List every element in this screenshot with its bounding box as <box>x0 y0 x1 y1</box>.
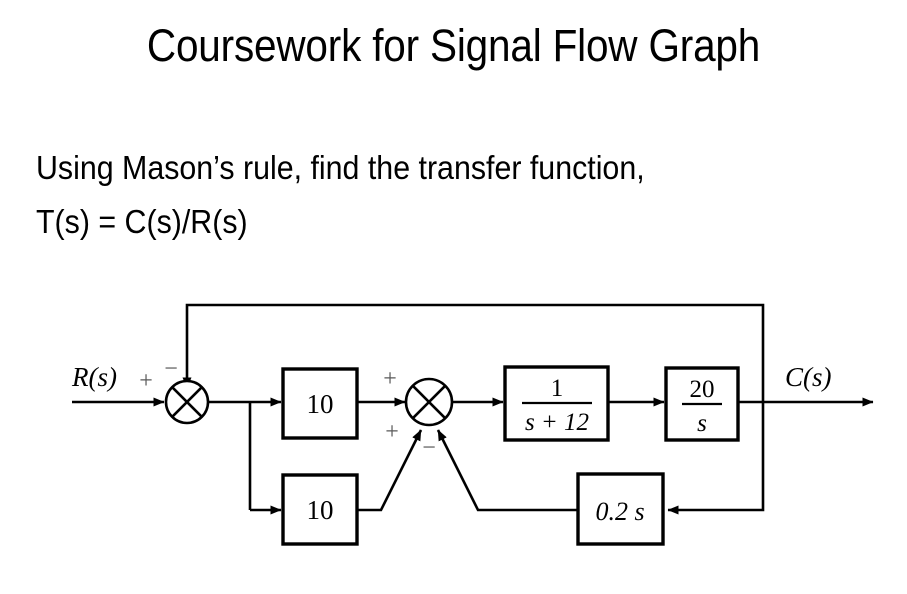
wire-rate-feedback-to-sum2 <box>438 430 578 510</box>
page-title: Coursework for Signal Flow Graph <box>45 19 861 72</box>
block-integrator-numerator: 20 <box>690 376 715 403</box>
block-rate-feedback-label: 0.2 s <box>595 497 644 526</box>
sum1-sign-plus: + <box>139 368 153 394</box>
sum2-sign-plus-top: + <box>383 366 397 392</box>
output-label: C(s) <box>785 362 832 392</box>
sum2-sign-plus-bottom: + <box>385 419 399 445</box>
block-integrator-denominator: s <box>697 410 707 437</box>
block-lag-numerator: 1 <box>551 375 564 402</box>
block-diagram: R(s) C(s) 10 10 1 s + 12 20 s 0.2 s + − … <box>0 270 907 580</box>
sum2-sign-minus: − <box>422 435 436 461</box>
body-line-2: T(s) = C(s)/R(s) <box>36 195 809 249</box>
body-line-1: Using Mason’s rule, find the transfer fu… <box>36 141 809 195</box>
sum1-sign-minus: − <box>164 356 178 382</box>
input-label: R(s) <box>71 362 117 392</box>
block-gain-10-bottom-label: 10 <box>307 495 334 525</box>
body-text: Using Mason’s rule, find the transfer fu… <box>36 141 876 249</box>
block-gain-10-top-label: 10 <box>307 389 334 419</box>
block-lag-denominator: s + 12 <box>525 409 589 436</box>
slide-canvas: Coursework for Signal Flow Graph Using M… <box>0 0 907 594</box>
